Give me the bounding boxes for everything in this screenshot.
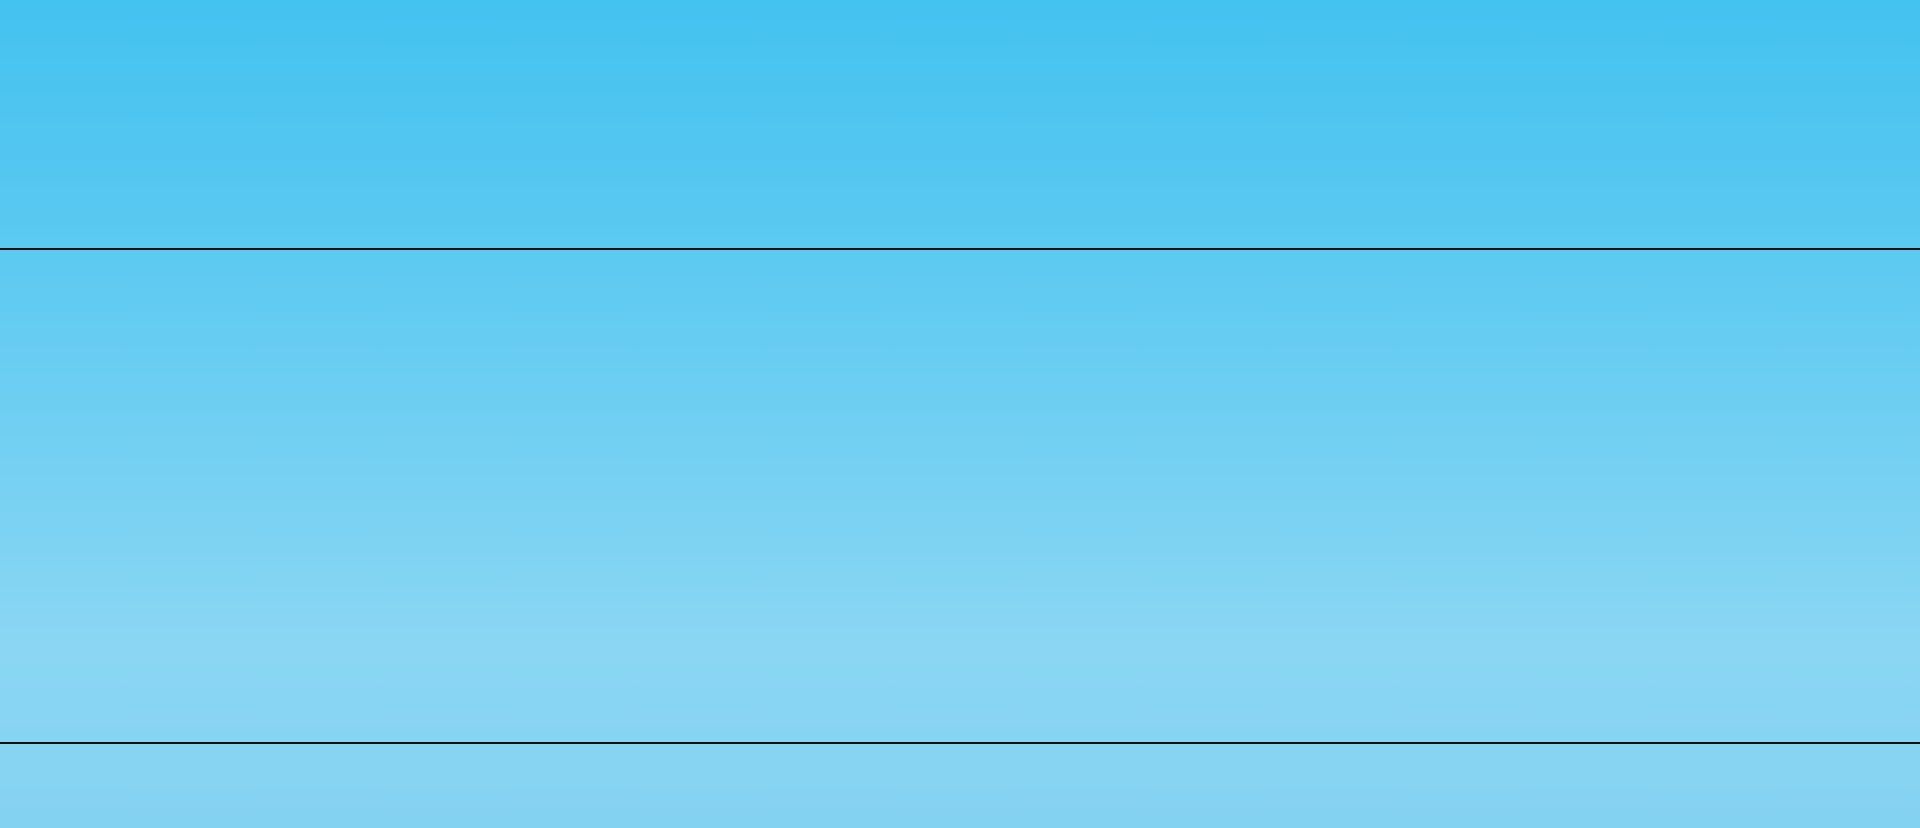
bottom-wavelength-axis	[0, 744, 1920, 828]
spectra-chart	[0, 248, 1920, 744]
page-header	[0, 0, 1920, 200]
spectra-canvas	[0, 250, 1920, 744]
top-species-axis	[0, 200, 1920, 254]
